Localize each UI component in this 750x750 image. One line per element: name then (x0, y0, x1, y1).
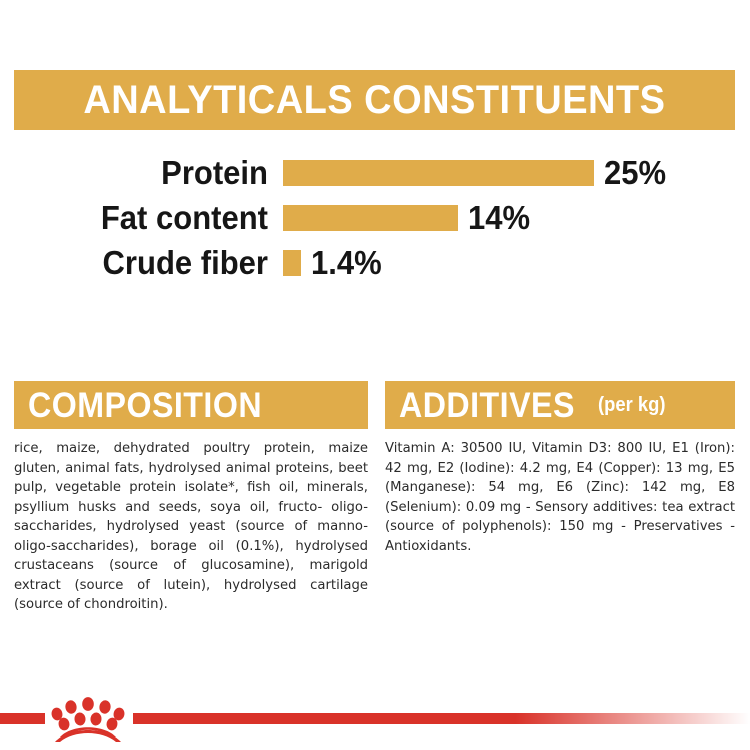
additives-title: ADDITIVES (399, 388, 575, 423)
chart-bar-crude-fiber (283, 250, 301, 276)
royal-canin-crown-icon (50, 693, 126, 745)
chart-value-crude-fiber: 1.4% (311, 246, 382, 279)
product-label-panel: ANALYTICALS CONSTITUENTS Protein 25% Fat… (0, 0, 750, 750)
chart-label-protein: Protein (16, 156, 268, 189)
chart-row-fat-content: Fat content 14% (0, 195, 750, 240)
chart-bar-fat-content (283, 205, 458, 231)
brand-footer (0, 705, 750, 750)
composition-panel: COMPOSITION rice, maize, dehydrated poul… (14, 381, 368, 615)
chart-bar-wrap-protein: 25% (283, 156, 670, 189)
composition-title: COMPOSITION (28, 388, 262, 423)
chart-value-fat-content: 14% (468, 201, 530, 234)
additives-panel: ADDITIVES (per kg) Vitamin A: 30500 IU, … (385, 381, 735, 556)
additives-subtitle: (per kg) (598, 395, 665, 415)
footer-rule-right (133, 713, 750, 724)
composition-body-text: rice, maize, dehydrated poultry protein,… (14, 439, 368, 615)
chart-value-protein: 25% (604, 156, 666, 189)
additives-banner: ADDITIVES (per kg) (385, 381, 735, 429)
chart-bar-protein (283, 160, 594, 186)
chart-label-crude-fiber: Crude fiber (16, 246, 268, 279)
chart-bar-wrap-fat-content: 14% (283, 201, 534, 234)
analyticals-constituents-banner: ANALYTICALS CONSTITUENTS (14, 70, 735, 130)
chart-row-protein: Protein 25% (0, 150, 750, 195)
analyticals-constituents-title: ANALYTICALS CONSTITUENTS (83, 80, 665, 120)
footer-rule-left (0, 713, 45, 724)
analyticals-bar-chart: Protein 25% Fat content 14% Crude fiber … (0, 150, 750, 285)
additives-body-text: Vitamin A: 30500 IU, Vitamin D3: 800 IU,… (385, 439, 735, 556)
chart-row-crude-fiber: Crude fiber 1.4% (0, 240, 750, 285)
composition-banner: COMPOSITION (14, 381, 368, 429)
chart-bar-wrap-crude-fiber: 1.4% (283, 246, 386, 279)
chart-label-fat-content: Fat content (16, 201, 268, 234)
